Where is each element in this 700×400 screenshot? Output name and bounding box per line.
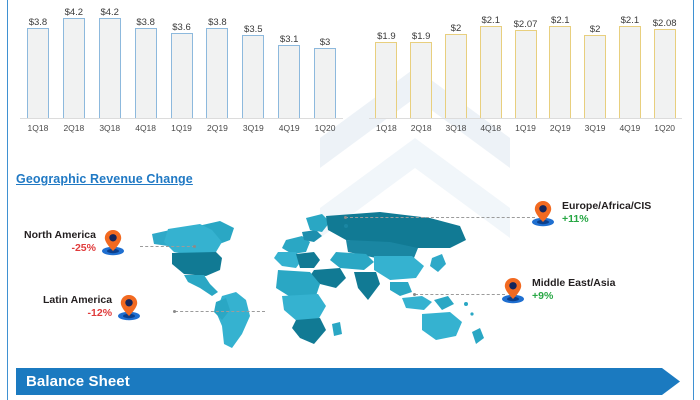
bar[interactable]: $2: [584, 35, 606, 118]
bar-slot: $3.5: [235, 8, 271, 118]
bar-value-label: $2: [590, 24, 601, 35]
bar-value-label: $4.2: [65, 7, 84, 18]
geographic-revenue-change-title: Geographic Revenue Change: [16, 172, 193, 186]
bar[interactable]: $4.2: [63, 18, 85, 118]
x-tick-label: 1Q19: [508, 120, 543, 136]
bar[interactable]: $1.9: [410, 42, 432, 118]
bar-value-label: $3.6: [172, 22, 191, 33]
x-tick-label: 1Q18: [20, 120, 56, 136]
bar[interactable]: $3.8: [27, 28, 49, 118]
bar-slot: $2.1: [612, 8, 647, 118]
x-tick-label: 3Q19: [235, 120, 271, 136]
bar-slot: $3.8: [128, 8, 164, 118]
bar-slot: $3.8: [20, 8, 56, 118]
callout-europe-africa-cis[interactable]: Europe/Africa/CIS +11%: [530, 199, 651, 227]
bar-slot: $2.07: [508, 8, 543, 118]
x-tick-label: 3Q18: [92, 120, 128, 136]
bar-slot: $2: [439, 8, 474, 118]
bar-slot: $2.1: [473, 8, 508, 118]
bar-value-label: $4.2: [100, 7, 119, 18]
connector-endpoint-dot: [413, 293, 416, 296]
map-pin-icon: [530, 199, 556, 227]
x-tick-label: 1Q18: [369, 120, 404, 136]
x-tick-label: 4Q19: [612, 120, 647, 136]
bar-slot: $4.2: [92, 8, 128, 118]
bar-slot: $2: [578, 8, 613, 118]
region-change-value: +11%: [562, 213, 589, 226]
x-tick-label: 4Q18: [473, 120, 508, 136]
x-tick-label: 4Q18: [128, 120, 164, 136]
connector-line-latin-america: [175, 311, 265, 312]
charts-row: $3.8 $4.2 $4.2 $3.8 $3.6 $3.8 $3.5 $3.1 …: [8, 0, 694, 150]
region-label: Middle East/Asia: [532, 277, 615, 290]
bar-slot: $3: [307, 8, 343, 118]
map-pin-icon: [100, 228, 126, 256]
region-change-value: -25%: [71, 242, 96, 255]
chart-right-x-labels: 1Q18 2Q18 3Q18 4Q18 1Q19 2Q19 3Q19 4Q19 …: [369, 120, 682, 136]
x-tick-label: 1Q20: [307, 120, 343, 136]
x-tick-label: 2Q19: [543, 120, 578, 136]
region-change-value: +9%: [532, 290, 553, 303]
bar[interactable]: $2.07: [515, 30, 537, 118]
balance-sheet-banner[interactable]: Balance Sheet: [14, 368, 680, 395]
banner-title: Balance Sheet: [26, 368, 130, 395]
bar[interactable]: $3.6: [171, 33, 193, 118]
bar[interactable]: $4.2: [99, 18, 121, 118]
x-tick-label: 2Q18: [404, 120, 439, 136]
connector-line-middle-east-asia: [415, 294, 505, 295]
region-label: North America: [24, 229, 96, 242]
bar[interactable]: $1.9: [375, 42, 397, 118]
bar-value-label: $1.9: [412, 31, 431, 42]
bar-value-label: $3.8: [136, 17, 155, 28]
bar[interactable]: $2.1: [480, 26, 502, 118]
connector-endpoint-dot: [173, 310, 176, 313]
bar-slot: $3.8: [199, 8, 235, 118]
connector-line-europe-africa-cis: [345, 217, 535, 218]
bar[interactable]: $3.5: [242, 35, 264, 118]
map-pin-icon: [500, 276, 526, 304]
bar-slot: $2.1: [543, 8, 578, 118]
bar[interactable]: $2.08: [654, 29, 676, 118]
x-tick-label: 1Q20: [647, 120, 682, 136]
bar-value-label: $1.9: [377, 31, 396, 42]
chart-left-revenue: $3.8 $4.2 $4.2 $3.8 $3.6 $3.8 $3.5 $3.1 …: [8, 0, 351, 150]
bar[interactable]: $2.1: [549, 26, 571, 118]
bar-slot: $3.1: [271, 8, 307, 118]
bar[interactable]: $3.1: [278, 45, 300, 118]
slide-page: $3.8 $4.2 $4.2 $3.8 $3.6 $3.8 $3.5 $3.1 …: [0, 0, 700, 400]
bar-value-label: $2.1: [551, 15, 570, 26]
connector-line-north-america: [140, 246, 195, 247]
bar-value-label: $3.8: [29, 17, 48, 28]
bar-value-label: $2.07: [514, 19, 538, 30]
callout-latin-america[interactable]: Latin America -12%: [43, 293, 142, 321]
region-change-value: -12%: [88, 307, 113, 320]
bar-value-label: $3.1: [280, 34, 299, 45]
banner-left-accent: [14, 368, 16, 395]
chart-left-x-labels: 1Q18 2Q18 3Q18 4Q18 1Q19 2Q19 3Q19 4Q19 …: [20, 120, 343, 136]
bar[interactable]: $2.1: [619, 26, 641, 118]
chart-left-plot: $3.8 $4.2 $4.2 $3.8 $3.6 $3.8 $3.5 $3.1 …: [20, 8, 343, 118]
x-tick-label: 4Q19: [271, 120, 307, 136]
bar[interactable]: $2: [445, 34, 467, 118]
chart-left-axis-line: [20, 118, 343, 119]
region-label: Europe/Africa/CIS: [562, 200, 651, 213]
chart-right-revenue: $1.9 $1.9 $2 $2.1 $2.07 $2.1 $2 $2.1 $2.…: [351, 0, 694, 150]
bar-value-label: $3.8: [208, 17, 227, 28]
x-tick-label: 2Q18: [56, 120, 92, 136]
chart-right-axis-line: [369, 118, 682, 119]
bar-value-label: $3.5: [244, 24, 263, 35]
connector-endpoint-dot: [193, 245, 196, 248]
bar-slot: $2.08: [647, 8, 682, 118]
bar-value-label: $2.08: [653, 18, 677, 29]
bar[interactable]: $3: [314, 48, 336, 118]
region-label: Latin America: [43, 294, 112, 307]
callout-middle-east-asia[interactable]: Middle East/Asia +9%: [500, 276, 615, 304]
bar-value-label: $3: [320, 37, 331, 48]
map-pin-icon: [116, 293, 142, 321]
x-tick-label: 3Q19: [578, 120, 613, 136]
x-tick-label: 3Q18: [439, 120, 474, 136]
bar-value-label: $2.1: [481, 15, 500, 26]
x-tick-label: 1Q19: [164, 120, 200, 136]
callout-north-america[interactable]: North America -25%: [24, 228, 126, 256]
bar[interactable]: $3.8: [135, 28, 157, 118]
bar-slot: $4.2: [56, 8, 92, 118]
bar-slot: $3.6: [164, 8, 200, 118]
bar-value-label: $2.1: [621, 15, 640, 26]
bar-slot: $1.9: [404, 8, 439, 118]
chart-right-plot: $1.9 $1.9 $2 $2.1 $2.07 $2.1 $2 $2.1 $2.…: [369, 8, 682, 118]
bar-value-label: $2: [451, 23, 462, 34]
world-map: [150, 196, 550, 354]
bar-slot: $1.9: [369, 8, 404, 118]
connector-endpoint-dot: [344, 216, 347, 219]
x-tick-label: 2Q19: [199, 120, 235, 136]
bar[interactable]: $3.8: [206, 28, 228, 118]
